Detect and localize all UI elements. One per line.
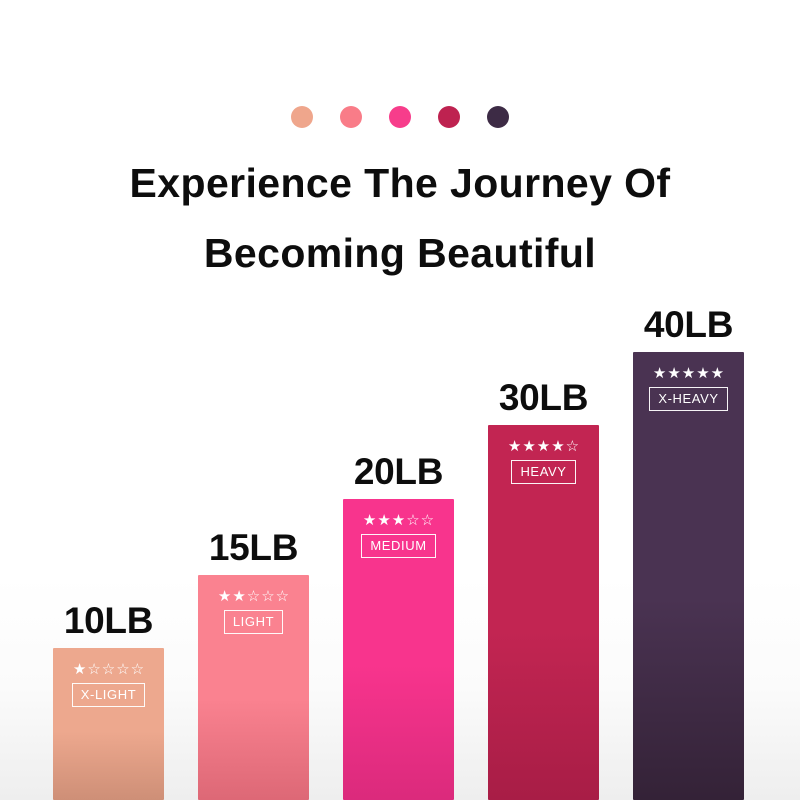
star-filled-icon: ★	[377, 513, 390, 528]
bar-annotation-x-light: ★☆☆☆☆X-LIGHT	[53, 662, 164, 707]
star-filled-icon: ★	[363, 513, 376, 528]
star-rating-x-heavy: ★★★★★	[653, 366, 724, 381]
bar-heavy[interactable]: ★★★★☆HEAVY	[488, 425, 599, 800]
bar-x-light[interactable]: ★☆☆☆☆X-LIGHT	[53, 648, 164, 800]
tier-badge-x-heavy: X-HEAVY	[649, 387, 727, 411]
resistance-band-bar-chart: 10LB★☆☆☆☆X-LIGHT15LB★★☆☆☆LIGHT20LB★★★☆☆M…	[0, 0, 800, 800]
bar-value-label-heavy: 30LB	[499, 377, 588, 419]
star-empty-icon: ☆	[276, 589, 289, 604]
star-empty-icon: ☆	[87, 662, 100, 677]
bar-annotation-light: ★★☆☆☆LIGHT	[198, 589, 309, 634]
bar-x-heavy[interactable]: ★★★★★X-HEAVY	[633, 352, 744, 800]
star-empty-icon: ☆	[247, 589, 260, 604]
bar-group-x-heavy[interactable]: 40LB★★★★★X-HEAVY	[633, 292, 744, 800]
bar-value-label-medium: 20LB	[354, 451, 443, 493]
star-filled-icon: ★	[682, 366, 695, 381]
bar-group-x-light[interactable]: 10LB★☆☆☆☆X-LIGHT	[53, 588, 164, 800]
star-filled-icon: ★	[667, 366, 680, 381]
star-empty-icon: ☆	[116, 662, 129, 677]
bar-light[interactable]: ★★☆☆☆LIGHT	[198, 575, 309, 800]
star-rating-x-light: ★☆☆☆☆	[73, 662, 144, 677]
star-rating-heavy: ★★★★☆	[508, 439, 579, 454]
star-empty-icon: ☆	[566, 439, 579, 454]
bar-value-label-x-light: 10LB	[64, 600, 153, 642]
tier-badge-light: LIGHT	[224, 610, 283, 634]
star-empty-icon: ☆	[131, 662, 144, 677]
star-filled-icon: ★	[73, 662, 86, 677]
poster-canvas: Experience The Journey Of Becoming Beaut…	[0, 0, 800, 800]
bar-group-medium[interactable]: 20LB★★★☆☆MEDIUM	[343, 439, 454, 800]
star-filled-icon: ★	[218, 589, 231, 604]
star-filled-icon: ★	[551, 439, 564, 454]
star-filled-icon: ★	[232, 589, 245, 604]
tier-badge-heavy: HEAVY	[511, 460, 575, 484]
star-filled-icon: ★	[392, 513, 405, 528]
tier-badge-x-light: X-LIGHT	[72, 683, 145, 707]
star-filled-icon: ★	[522, 439, 535, 454]
bar-group-light[interactable]: 15LB★★☆☆☆LIGHT	[198, 515, 309, 800]
star-filled-icon: ★	[508, 439, 521, 454]
bar-value-label-x-heavy: 40LB	[644, 304, 733, 346]
star-empty-icon: ☆	[421, 513, 434, 528]
star-empty-icon: ☆	[102, 662, 115, 677]
star-rating-medium: ★★★☆☆	[363, 513, 434, 528]
bar-annotation-x-heavy: ★★★★★X-HEAVY	[633, 366, 744, 411]
tier-badge-medium: MEDIUM	[361, 534, 435, 558]
star-rating-light: ★★☆☆☆	[218, 589, 289, 604]
bar-medium[interactable]: ★★★☆☆MEDIUM	[343, 499, 454, 800]
bar-annotation-heavy: ★★★★☆HEAVY	[488, 439, 599, 484]
bar-group-heavy[interactable]: 30LB★★★★☆HEAVY	[488, 365, 599, 800]
star-filled-icon: ★	[711, 366, 724, 381]
star-empty-icon: ☆	[261, 589, 274, 604]
star-filled-icon: ★	[537, 439, 550, 454]
bar-value-label-light: 15LB	[209, 527, 298, 569]
star-filled-icon: ★	[696, 366, 709, 381]
star-filled-icon: ★	[653, 366, 666, 381]
star-empty-icon: ☆	[406, 513, 419, 528]
bar-annotation-medium: ★★★☆☆MEDIUM	[343, 513, 454, 558]
